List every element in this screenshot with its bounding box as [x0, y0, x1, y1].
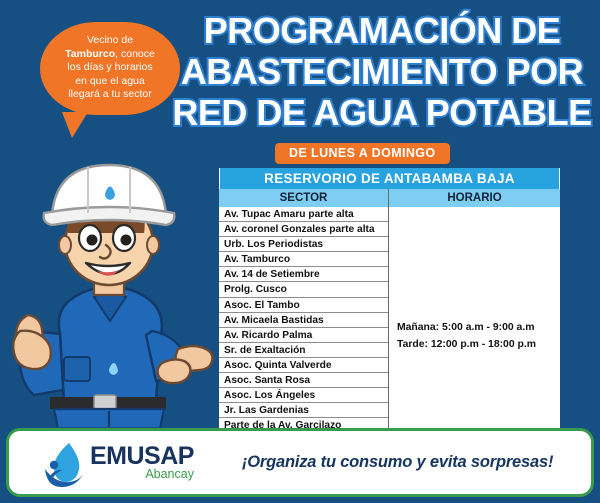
table-row: Asoc. Los Ángeles	[219, 388, 388, 403]
column-header-sector: SECTOR	[219, 189, 389, 207]
table-row: Asoc. Santa Rosa	[219, 373, 388, 388]
table-row: Prolg. Cusco	[219, 282, 388, 297]
table-row: Av. Ricardo Palma	[219, 328, 388, 343]
table-row: Sr. de Exaltación	[219, 343, 388, 358]
poster-title-block: PROGRAMACIÓN DE ABASTECIMIENTO POR RED D…	[168, 10, 596, 133]
table-row: Av. Micaela Bastidas	[219, 313, 388, 328]
bubble-line-2: , conoce	[115, 48, 155, 60]
table-row: Urb. Los Periodistas	[219, 237, 388, 252]
bubble-highlight: Tamburco	[65, 48, 115, 60]
column-header-horario: HORARIO	[389, 189, 560, 207]
schedule-text: Mañana: 5:00 a.m - 9:00 a.m Tarde: 12:00…	[397, 319, 568, 353]
bubble-line-3: los días y horarios	[67, 61, 152, 73]
footer-bar: EMUSAP Abancay ¡Organiza tu consumo y ev…	[6, 428, 594, 497]
table-row: Av. coronel Gonzales parte alta	[219, 222, 388, 237]
table-title: RESERVORIO DE ANTABAMBA BAJA	[219, 168, 560, 189]
title-line-2: ABASTECIMIENTO POR	[168, 51, 596, 92]
logo-secondary-text: Abancay	[90, 468, 194, 481]
days-badge: DE LUNES A DOMINGO	[275, 143, 450, 164]
title-line-1: PROGRAMACIÓN DE	[168, 10, 596, 51]
table-row: Av. Tupac Amaru parte alta	[219, 207, 388, 222]
poster-canvas: PROGRAMACIÓN DE ABASTECIMIENTO POR RED D…	[0, 0, 600, 503]
worker-mascot-illustration	[2, 135, 217, 427]
table-row: Av. 14 de Setiembre	[219, 267, 388, 282]
bubble-line-5: llegará a tu sector	[68, 88, 151, 100]
footer-slogan: ¡Organiza tu consumo y evita sorpresas!	[242, 453, 553, 472]
title-line-3: RED DE AGUA POTABLE	[168, 92, 596, 133]
table-row: Asoc. Quinta Valverde	[219, 358, 388, 373]
table-row: Jr. Las Gardenias	[219, 403, 388, 418]
speech-bubble-tail	[62, 112, 88, 138]
schedule-morning: Mañana: 5:00 a.m - 9:00 a.m	[397, 319, 568, 336]
bubble-line-4: en que el agua	[75, 75, 144, 87]
logo-primary-text: EMUSAP	[90, 444, 194, 469]
emusap-logo: EMUSAP Abancay	[39, 439, 194, 487]
table-row: Asoc. El Tambo	[219, 298, 388, 313]
schedule-afternoon: Tarde: 12:00 p.m - 18:00 p.m	[397, 336, 568, 353]
horario-column: Mañana: 5:00 a.m - 9:00 a.m Tarde: 12:00…	[389, 207, 560, 433]
table-row: Av. Tamburco	[219, 252, 388, 267]
bubble-line-1: Vecino de	[87, 34, 133, 46]
sector-column: Av. Tupac Amaru parte alta Av. coronel G…	[219, 207, 389, 433]
table-header-row: SECTOR HORARIO	[219, 189, 560, 207]
water-drop-icon	[39, 439, 87, 487]
table-body: Av. Tupac Amaru parte alta Av. coronel G…	[219, 207, 560, 433]
emusap-wordmark: EMUSAP Abancay	[90, 444, 194, 481]
speech-bubble: Vecino de Tamburco, conoce los días y ho…	[40, 22, 180, 115]
schedule-table: RESERVORIO DE ANTABAMBA BAJA SECTOR HORA…	[219, 168, 560, 433]
